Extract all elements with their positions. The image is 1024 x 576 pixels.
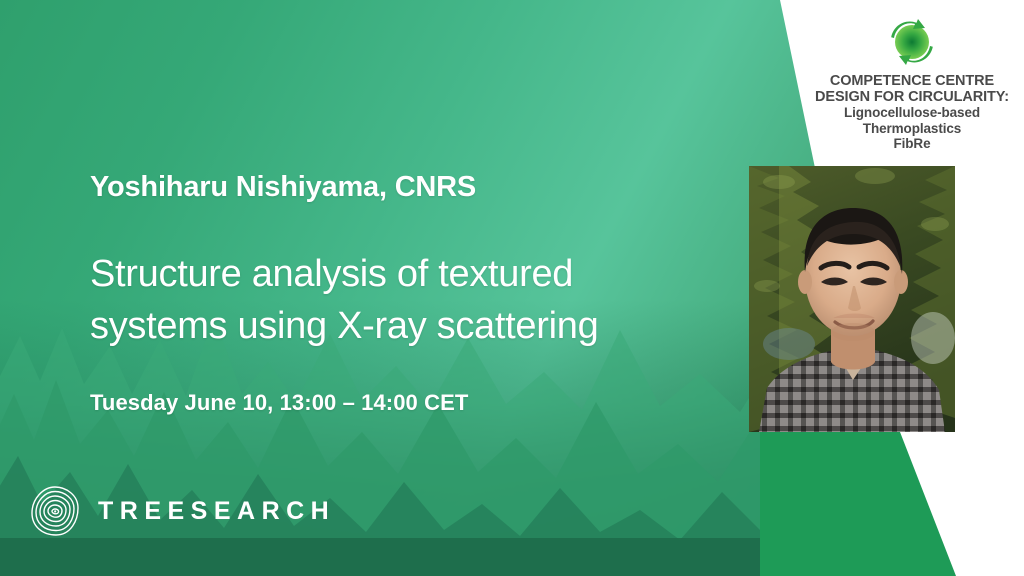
event-datetime: Tuesday June 10, 13:00 – 14:00 CET: [90, 390, 468, 416]
cc-line-4: Thermoplastics: [806, 121, 1018, 137]
treesearch-wordmark: TREESEARCH: [98, 497, 335, 526]
cc-line-1: COMPETENCE CENTRE: [806, 74, 1018, 90]
speaker-name: Yoshiharu Nishiyama, CNRS: [90, 171, 476, 204]
speaker-portrait-photo: [749, 166, 955, 432]
page-title: Structure analysis of textured systems u…: [90, 248, 710, 352]
circular-recycling-icon: [884, 16, 940, 68]
title-line-1: Structure analysis of textured: [90, 248, 710, 300]
cc-line-3: Lignocellulose-based: [806, 105, 1018, 121]
tree-rings-icon: [28, 484, 82, 538]
competence-centre-block: COMPETENCE CENTRE DESIGN FOR CIRCULARITY…: [806, 16, 1018, 152]
webinar-announcement-slide: Yoshiharu Nishiyama, CNRS Structure anal…: [0, 0, 1024, 576]
cc-line-5: FibRe: [806, 136, 1018, 152]
cc-line-2: DESIGN FOR CIRCULARITY:: [806, 90, 1018, 106]
bottom-right-green-wedge: [760, 420, 1024, 576]
title-line-2: systems using X-ray scattering: [90, 300, 710, 352]
treesearch-logo: TREESEARCH: [28, 484, 335, 538]
